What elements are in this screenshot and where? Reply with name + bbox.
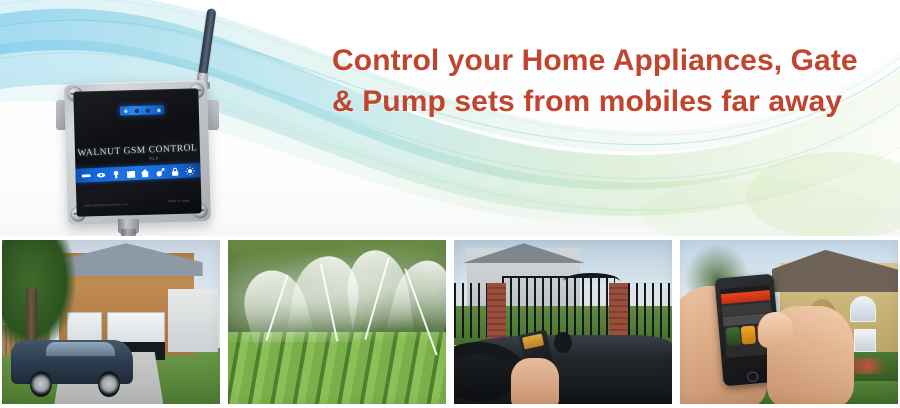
photo-automatic-gate [454, 240, 672, 404]
device-version-label: V1.0 [149, 155, 158, 160]
device-url-label: www.walnutinnovations.com [84, 202, 128, 207]
bulb-icon [111, 169, 120, 178]
signal-led [123, 109, 127, 113]
gsm-control-device: WALNUT GSM CONTROL V1.0 [52, 4, 232, 234]
brick-pillar [487, 283, 507, 345]
driver-hand [511, 358, 559, 404]
water-mist [228, 240, 446, 342]
status-led [145, 108, 149, 112]
appliance-icon [81, 171, 90, 180]
network-led [156, 108, 160, 112]
tab-security[interactable] [742, 362, 748, 363]
antenna-icon [198, 8, 216, 77]
arm-home-button[interactable] [741, 326, 756, 345]
tab-cameras[interactable] [754, 361, 760, 362]
product-banner: WALNUT GSM CONTROL V1.0 [0, 0, 900, 408]
hero-section: WALNUT GSM CONTROL V1.0 [0, 0, 900, 236]
tab-home[interactable] [730, 363, 736, 364]
factory-icon [126, 169, 135, 178]
device-enclosure: WALNUT GSM CONTROL V1.0 [64, 80, 211, 225]
device-brand-label: WALNUT GSM CONTROL [75, 143, 200, 159]
device-function-icon-band [75, 163, 201, 183]
lock-icon [171, 167, 180, 176]
led-indicator-bar [120, 105, 164, 115]
rear-view-mirror [554, 332, 571, 353]
disarm-button[interactable] [726, 327, 741, 346]
arched-window [850, 296, 876, 322]
photo-house-garage-car [2, 240, 220, 404]
pump-icon [156, 167, 165, 176]
feature-photo-strip [0, 236, 900, 408]
fan-icon [96, 170, 105, 179]
car-wheel [98, 371, 120, 397]
tree-canopy [2, 240, 76, 352]
phone-home-button[interactable] [746, 372, 759, 383]
page-title: Control your Home Appliances, Gate & Pum… [332, 40, 888, 122]
device-faceplate: WALNUT GSM CONTROL V1.0 [73, 88, 201, 216]
porch [168, 289, 218, 351]
pointing-finger [758, 312, 793, 348]
device-origin-label: Made in India [168, 199, 189, 204]
light-icon [185, 166, 194, 175]
house-icon [141, 168, 150, 177]
photo-smartphone-home-control [680, 240, 898, 404]
window [854, 329, 876, 352]
photo-irrigation-sprinklers [228, 240, 446, 404]
car-windows [46, 342, 116, 357]
power-led [134, 108, 138, 112]
cable-gland [118, 219, 139, 234]
